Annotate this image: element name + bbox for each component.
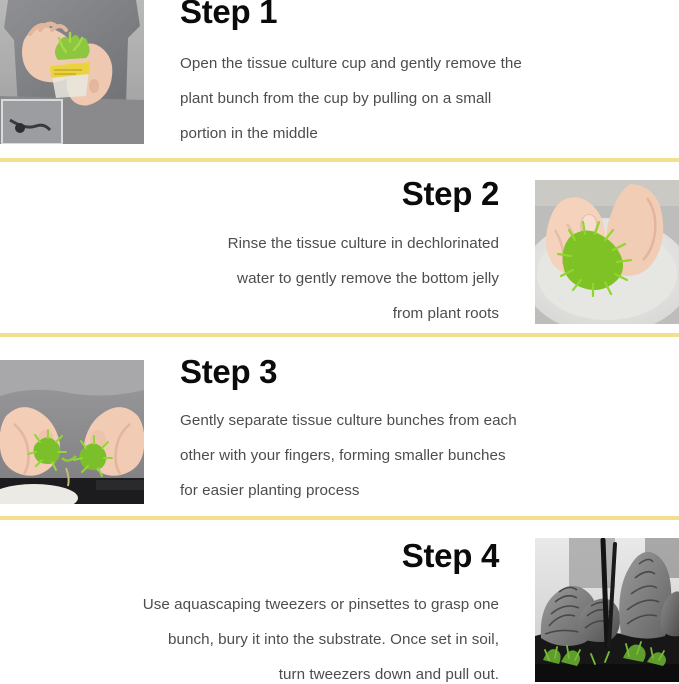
step-1-description: Open the tissue culture cup and gently r… xyxy=(180,46,659,151)
step-1-line-2: plant bunch from the cup by pulling on a… xyxy=(180,81,659,116)
step-2-title: Step 2 xyxy=(20,177,499,212)
step-3-title: Step 3 xyxy=(180,355,659,390)
step-row-1: Step 1 Open the tissue culture cup and g… xyxy=(0,0,679,159)
step-2-line-3: from plant roots xyxy=(20,296,499,331)
step-2-line-1: Rinse the tissue culture in dechlorinate… xyxy=(20,226,499,261)
step-3-line-2: other with your fingers, forming smaller… xyxy=(180,438,659,473)
instruction-steps-infographic: Step 1 Open the tissue culture cup and g… xyxy=(0,0,679,684)
step-2-line-2: water to gently remove the bottom jelly xyxy=(20,261,499,296)
divider-2 xyxy=(0,333,679,337)
step-row-3: Step 3 Gently separate tissue culture bu… xyxy=(0,338,679,517)
divider-3 xyxy=(0,516,679,520)
step-1-text-column: Step 1 Open the tissue culture cup and g… xyxy=(144,0,679,151)
step-row-2: Step 2 Rinse the tissue culture in dechl… xyxy=(0,163,679,334)
step-4-line-1: Use aquascaping tweezers or pinsettes to… xyxy=(20,587,499,622)
hands-opening-tissue-culture-cup-icon xyxy=(0,0,144,144)
hands-separating-plant-bunches-icon xyxy=(0,360,144,504)
step-3-line-1: Gently separate tissue culture bunches f… xyxy=(180,403,659,438)
step-1-image xyxy=(0,0,144,144)
step-4-line-2: bunch, bury it into the substrate. Once … xyxy=(20,622,499,657)
step-2-text-column: Step 2 Rinse the tissue culture in dechl… xyxy=(0,163,535,331)
step-4-text-column: Step 4 Use aquascaping tweezers or pinse… xyxy=(0,521,535,684)
step-4-line-3: turn tweezers down and pull out. xyxy=(20,657,499,684)
step-1-line-3: portion in the middle xyxy=(180,116,659,151)
step-4-title: Step 4 xyxy=(20,539,499,574)
aquascape-rocks-with-tweezers-icon xyxy=(535,538,679,682)
step-3-text-column: Step 3 Gently separate tissue culture bu… xyxy=(144,338,679,508)
step-4-description: Use aquascaping tweezers or pinsettes to… xyxy=(20,587,499,684)
step-1-line-1: Open the tissue culture cup and gently r… xyxy=(180,46,659,81)
step-3-image xyxy=(0,360,144,504)
step-4-image xyxy=(535,538,679,682)
step-3-line-3: for easier planting process xyxy=(180,473,659,508)
hands-rinsing-plant-in-bowl-icon xyxy=(535,180,679,324)
step-3-description: Gently separate tissue culture bunches f… xyxy=(180,403,659,508)
step-2-description: Rinse the tissue culture in dechlorinate… xyxy=(20,226,499,331)
step-row-4: Step 4 Use aquascaping tweezers or pinse… xyxy=(0,521,679,684)
step-2-image xyxy=(535,180,679,324)
divider-1 xyxy=(0,158,679,162)
step-1-title: Step 1 xyxy=(180,0,659,30)
